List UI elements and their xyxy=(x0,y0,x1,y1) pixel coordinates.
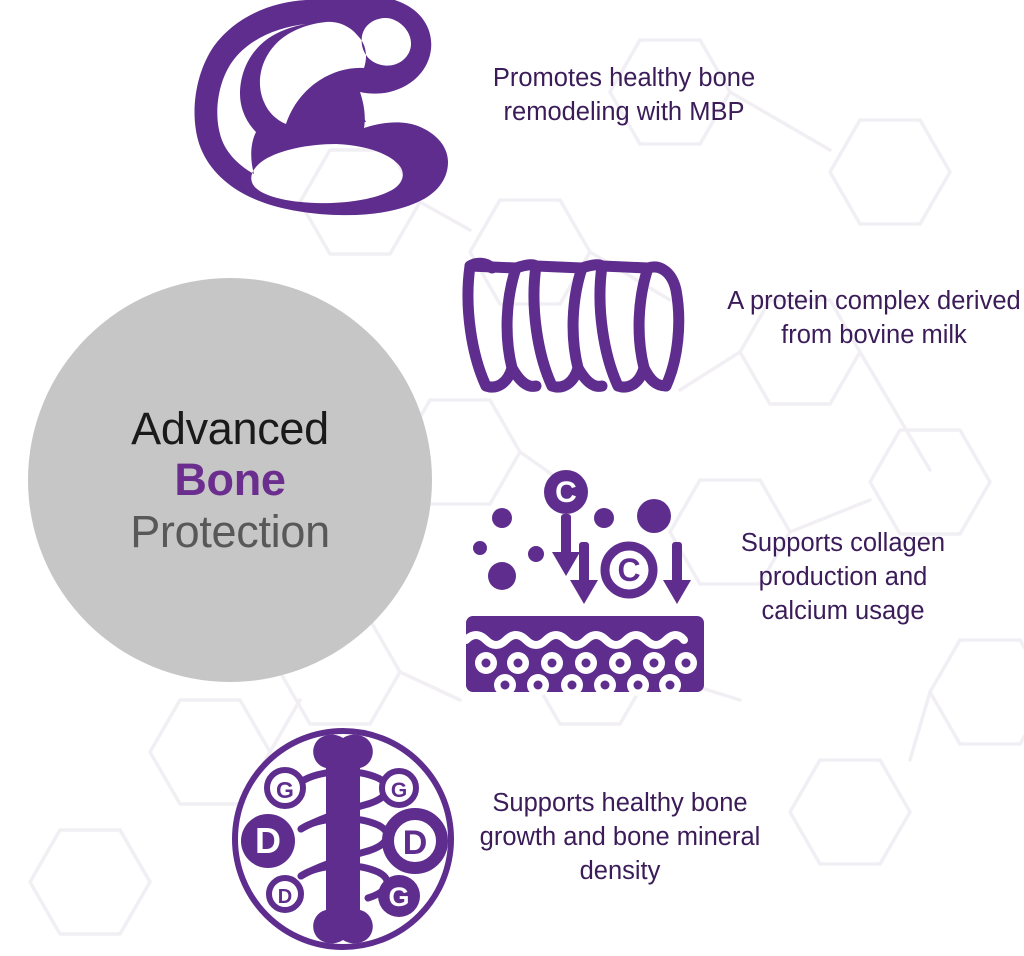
molecule-dot xyxy=(488,562,516,590)
molecule-dot xyxy=(637,499,671,533)
advanced-bone-protection-infographic: Advanced Bone Protection xyxy=(0,0,1024,956)
vitamin-badge-d-bottom-left-label: D xyxy=(278,886,292,908)
feature-caption-bone-remodeling: Promotes healthy bone remodeling with MB… xyxy=(452,62,796,130)
flexed-bicep-icon xyxy=(186,0,456,216)
vitamin-badge-g-top-right-label: G xyxy=(391,779,407,802)
collagen-skin-layer-icon: C C xyxy=(462,470,714,696)
hero-line-bone: Bone xyxy=(174,454,285,505)
feature-caption-collagen-calcium: Supports collagen production and calcium… xyxy=(714,527,972,629)
hero-line-protection: Protection xyxy=(130,506,330,557)
molecule-dot xyxy=(528,546,544,562)
molecule-dot xyxy=(594,508,614,528)
feature-caption-protein-complex: A protein complex derived from bovine mi… xyxy=(716,285,1024,353)
vitamin-badge-g-top-right: G xyxy=(382,771,416,805)
vitamin-badge-d-bottom-left: D xyxy=(269,878,301,910)
vitamin-c-badge-outline-label: C xyxy=(617,552,640,588)
absorption-arrow xyxy=(552,514,580,576)
bone-vitamin-circle-icon: G D D G D G xyxy=(228,724,458,954)
molecule-dot xyxy=(473,541,487,555)
vitamin-badge-d-right-label: D xyxy=(403,824,428,862)
vitamin-badge-d-right: D xyxy=(388,814,442,868)
protein-helix-icon xyxy=(458,256,698,398)
feature-caption-bone-growth-density: Supports healthy bone growth and bone mi… xyxy=(460,787,780,889)
absorption-arrow xyxy=(663,542,691,604)
vitamin-badge-g-bottom-right-label: G xyxy=(388,882,409,912)
absorption-arrow xyxy=(570,542,598,604)
hero-line-advanced: Advanced xyxy=(131,403,329,454)
hero-circle: Advanced Bone Protection xyxy=(28,278,432,682)
vitamin-badge-d-left: D xyxy=(241,814,295,868)
vitamin-badge-g-top-left: G xyxy=(267,770,303,806)
vitamin-c-badge-filled-label: C xyxy=(555,476,577,509)
vitamin-badge-g-bottom-right: G xyxy=(378,875,420,917)
vitamin-badge-g-top-left-label: G xyxy=(276,777,294,803)
vitamin-badge-d-left-label: D xyxy=(255,820,281,861)
molecule-dot xyxy=(492,508,512,528)
